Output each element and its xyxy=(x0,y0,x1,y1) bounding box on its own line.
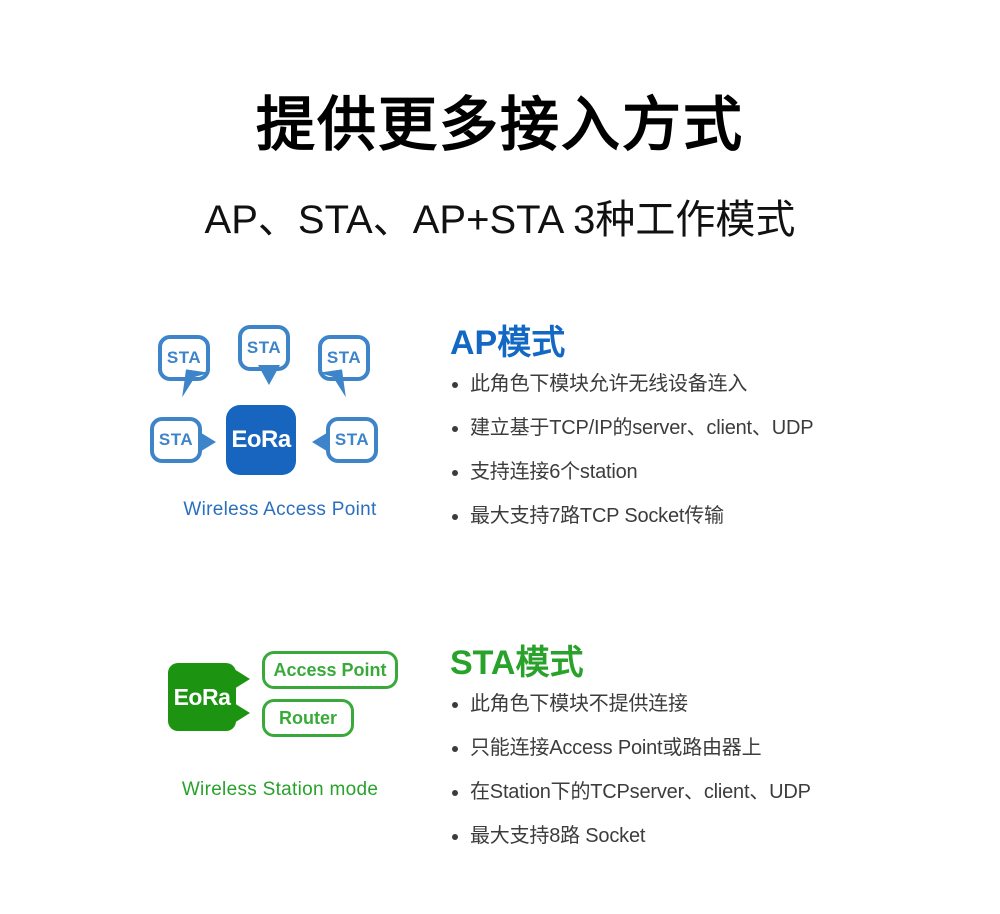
eora-module-ap: EoRa xyxy=(226,405,296,475)
page-header: 提供更多接入方式 AP、STA、AP+STA 3种工作模式 xyxy=(0,0,1000,245)
list-item: 只能连接Access Point或路由器上 xyxy=(450,738,1000,758)
page-title: 提供更多接入方式 xyxy=(0,96,1000,155)
sta-node-2: STA xyxy=(238,325,290,371)
sta-node-5-label: STA xyxy=(335,430,369,450)
speech-tail-icon xyxy=(198,431,216,453)
ap-feature-list: 此角色下模块允许无线设备连入 建立基于TCP/IP的server、client、… xyxy=(450,374,1000,526)
sta-node-1: STA xyxy=(158,335,210,381)
sta-text-column: STA模式 此角色下模块不提供连接 只能连接Access Point或路由器上 … xyxy=(450,645,1000,870)
sta-node-4: STA xyxy=(150,417,202,463)
sta-node-5: STA xyxy=(326,417,378,463)
sta-node-4-label: STA xyxy=(159,430,193,450)
sta-node-1-label: STA xyxy=(167,348,201,368)
ap-topology-diagram: STA STA STA STA STA EoRa xyxy=(150,325,410,485)
sta-topology-diagram: EoRa Access Point Router xyxy=(150,645,410,765)
sta-mode-heading: STA模式 xyxy=(450,645,1000,682)
ap-diagram-column: STA STA STA STA STA EoRa Wireless Acces xyxy=(150,325,450,521)
list-item: 此角色下模块允许无线设备连入 xyxy=(450,374,1000,394)
list-item: 最大支持8路 Socket xyxy=(450,826,1000,846)
speech-tail-icon xyxy=(234,703,250,723)
sta-diagram-caption: Wireless Station mode xyxy=(150,779,410,801)
sta-node-3-label: STA xyxy=(327,348,361,368)
sta-mode-section: EoRa Access Point Router Wireless Statio… xyxy=(0,645,1000,870)
ap-mode-section: STA STA STA STA STA EoRa Wireless Acces xyxy=(0,325,1000,550)
list-item: 建立基于TCP/IP的server、client、UDP xyxy=(450,418,1000,438)
list-item: 最大支持7路TCP Socket传输 xyxy=(450,506,1000,526)
speech-tail-icon xyxy=(182,369,210,400)
speech-tail-icon xyxy=(312,431,330,453)
eora-module-sta: EoRa xyxy=(168,663,236,731)
router-node: Router xyxy=(262,699,354,737)
speech-tail-icon xyxy=(318,369,346,400)
access-point-node: Access Point xyxy=(262,651,398,689)
list-item: 在Station下的TCPserver、client、UDP xyxy=(450,782,1000,802)
speech-tail-icon xyxy=(258,365,280,385)
list-item: 支持连接6个station xyxy=(450,462,1000,482)
ap-text-column: AP模式 此角色下模块允许无线设备连入 建立基于TCP/IP的server、cl… xyxy=(450,325,1000,550)
sta-node-2-label: STA xyxy=(247,338,281,358)
sta-feature-list: 此角色下模块不提供连接 只能连接Access Point或路由器上 在Stati… xyxy=(450,694,1000,846)
ap-diagram-caption: Wireless Access Point xyxy=(150,499,410,521)
sta-diagram-column: EoRa Access Point Router Wireless Statio… xyxy=(150,645,450,801)
list-item: 此角色下模块不提供连接 xyxy=(450,694,1000,714)
page-subtitle: AP、STA、AP+STA 3种工作模式 xyxy=(0,155,1000,245)
ap-mode-heading: AP模式 xyxy=(450,325,1000,362)
sta-node-3: STA xyxy=(318,335,370,381)
speech-tail-icon xyxy=(234,669,250,689)
